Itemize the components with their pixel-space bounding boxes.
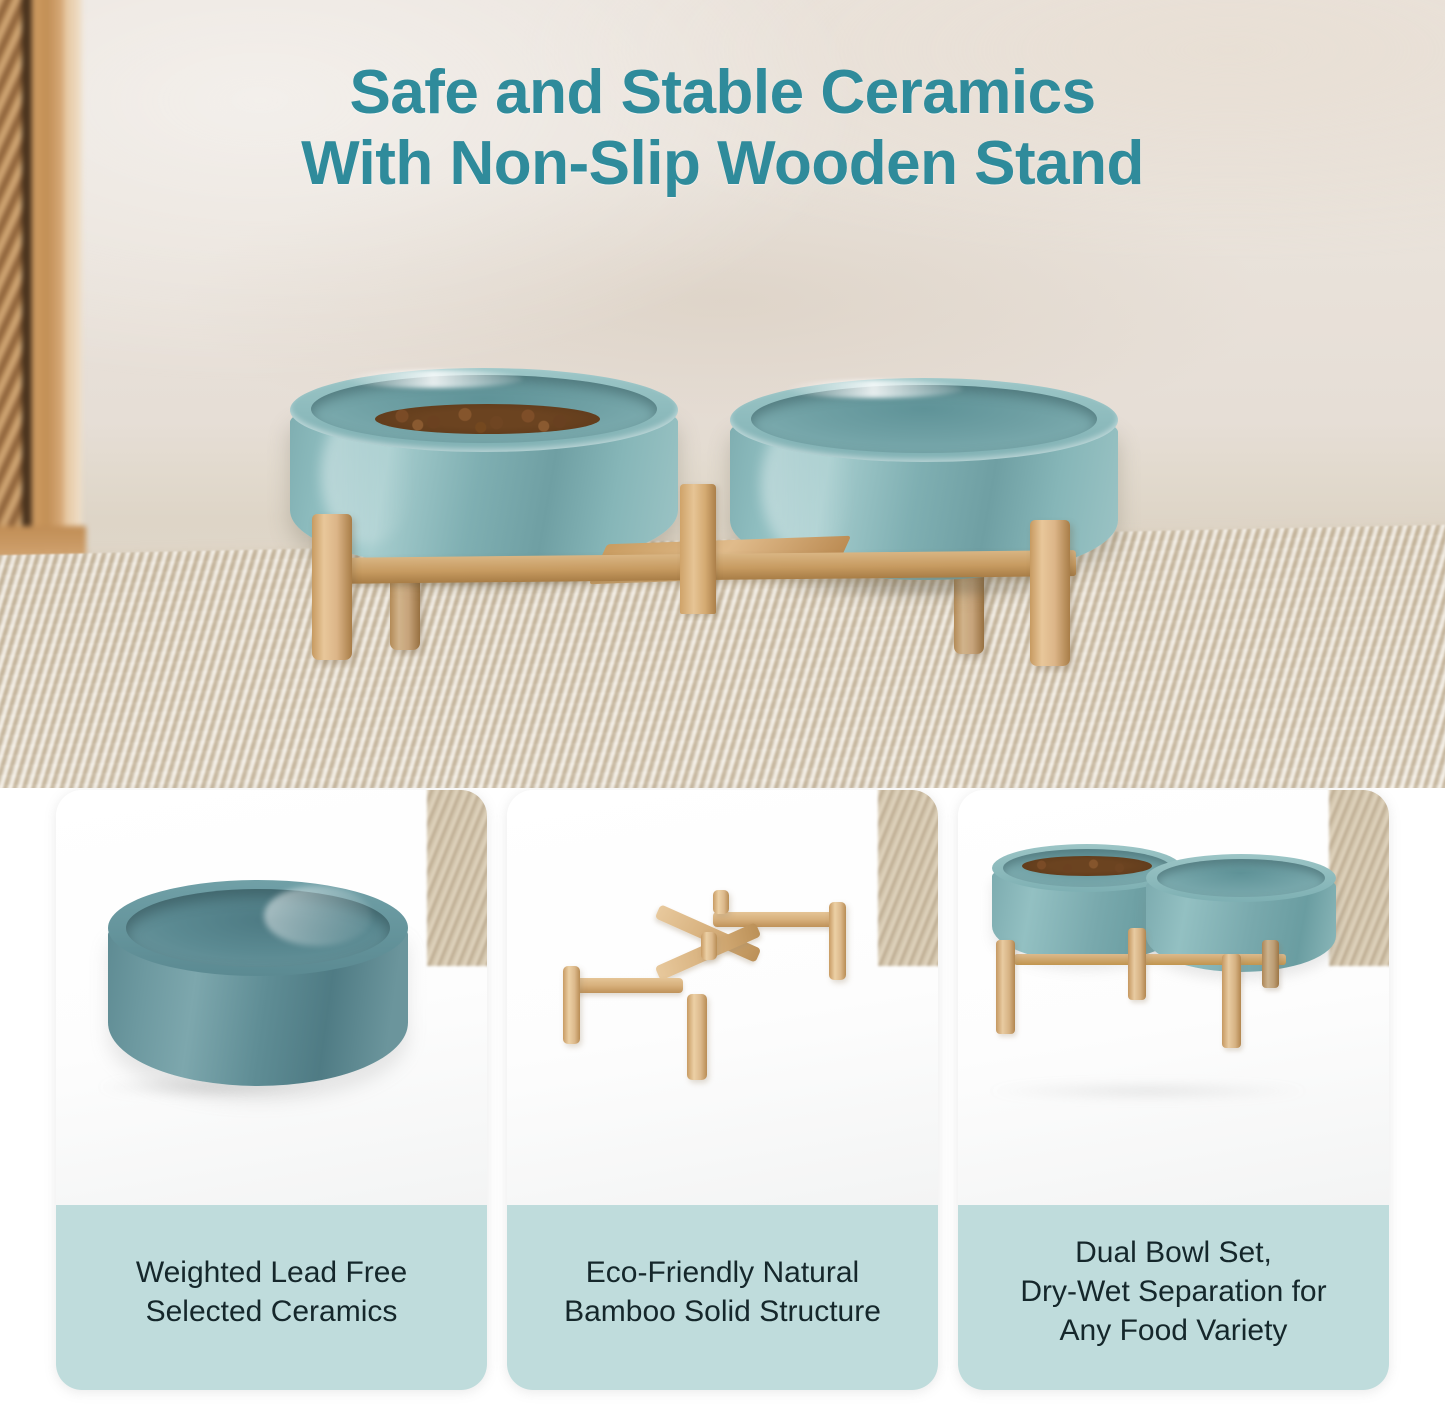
stand-leg-left (563, 966, 580, 1044)
stand-nub-top (713, 890, 729, 914)
feature-card-ceramics[interactable]: Weighted Lead Free Selected Ceramics (56, 790, 487, 1390)
feature-caption: Dual Bowl Set, Dry-Wet Separation for An… (958, 1205, 1389, 1390)
hero-product-assembly (282, 368, 1122, 748)
feature-caption: Eco-Friendly Natural Bamboo Solid Struct… (507, 1205, 938, 1390)
ceramic-bowl (108, 880, 408, 1092)
stand-nub-center (701, 932, 717, 960)
stand-center-post (680, 484, 716, 614)
bowl-rim (108, 880, 408, 976)
stand-leg-left-front (312, 514, 352, 660)
caption-line: Dry-Wet Separation for (1020, 1272, 1326, 1311)
feature-card-bamboo[interactable]: Eco-Friendly Natural Bamboo Solid Struct… (507, 790, 938, 1390)
single-ceramic-bowl-photo (56, 790, 487, 1205)
bowl-rim (290, 368, 678, 452)
caption-line: Dual Bowl Set, (1075, 1233, 1272, 1272)
caption-line: Bamboo Solid Structure (564, 1292, 881, 1331)
stand-leg-right (829, 902, 846, 980)
feature-card-row: Weighted Lead Free Selected Ceramics (0, 788, 1445, 1406)
bamboo-stand-frame-photo (507, 790, 938, 1205)
photo-corner-rug-texture (427, 790, 487, 966)
bowl-rim (730, 378, 1118, 462)
feature-caption: Weighted Lead Free Selected Ceramics (56, 1205, 487, 1390)
headline-line-2: With Non-Slip Wooden Stand (0, 129, 1445, 200)
stand-leg-right-front (1030, 520, 1070, 666)
bamboo-stand (541, 870, 921, 1120)
stand-arm-left (571, 978, 683, 993)
hero-lifestyle-photo: Safe and Stable Ceramics With Non-Slip W… (0, 0, 1445, 810)
bowl-gloss-highlight (264, 886, 372, 946)
set-leg-4 (1262, 940, 1279, 988)
set-leg-1 (996, 940, 1015, 1034)
set-leg-2 (1128, 928, 1146, 1000)
dual-bowl-set (974, 836, 1386, 1136)
caption-line: Any Food Variety (1060, 1311, 1288, 1350)
bowl-rim (1146, 854, 1336, 902)
caption-line: Selected Ceramics (146, 1292, 398, 1331)
dual-bowl-set-photo (958, 790, 1389, 1205)
kibble-food (1022, 856, 1151, 876)
stand-leg-front (687, 994, 707, 1080)
caption-line: Eco-Friendly Natural (586, 1253, 859, 1292)
stand-arm-right (713, 912, 839, 927)
headline-line-1: Safe and Stable Ceramics (349, 58, 1095, 127)
set-leg-3 (1222, 954, 1241, 1048)
set-stand-rail (1014, 954, 1286, 965)
feature-card-dual-bowl[interactable]: Dual Bowl Set, Dry-Wet Separation for An… (958, 790, 1389, 1390)
bowl-gloss-highlight (344, 370, 522, 388)
bowl-interior (1157, 859, 1324, 897)
page-title: Safe and Stable Ceramics With Non-Slip W… (0, 58, 1445, 199)
kibble-food (375, 404, 600, 434)
bowl-gloss-highlight (784, 380, 962, 398)
caption-line: Weighted Lead Free (136, 1253, 407, 1292)
product-infographic-poster: Safe and Stable Ceramics With Non-Slip W… (0, 0, 1445, 1406)
